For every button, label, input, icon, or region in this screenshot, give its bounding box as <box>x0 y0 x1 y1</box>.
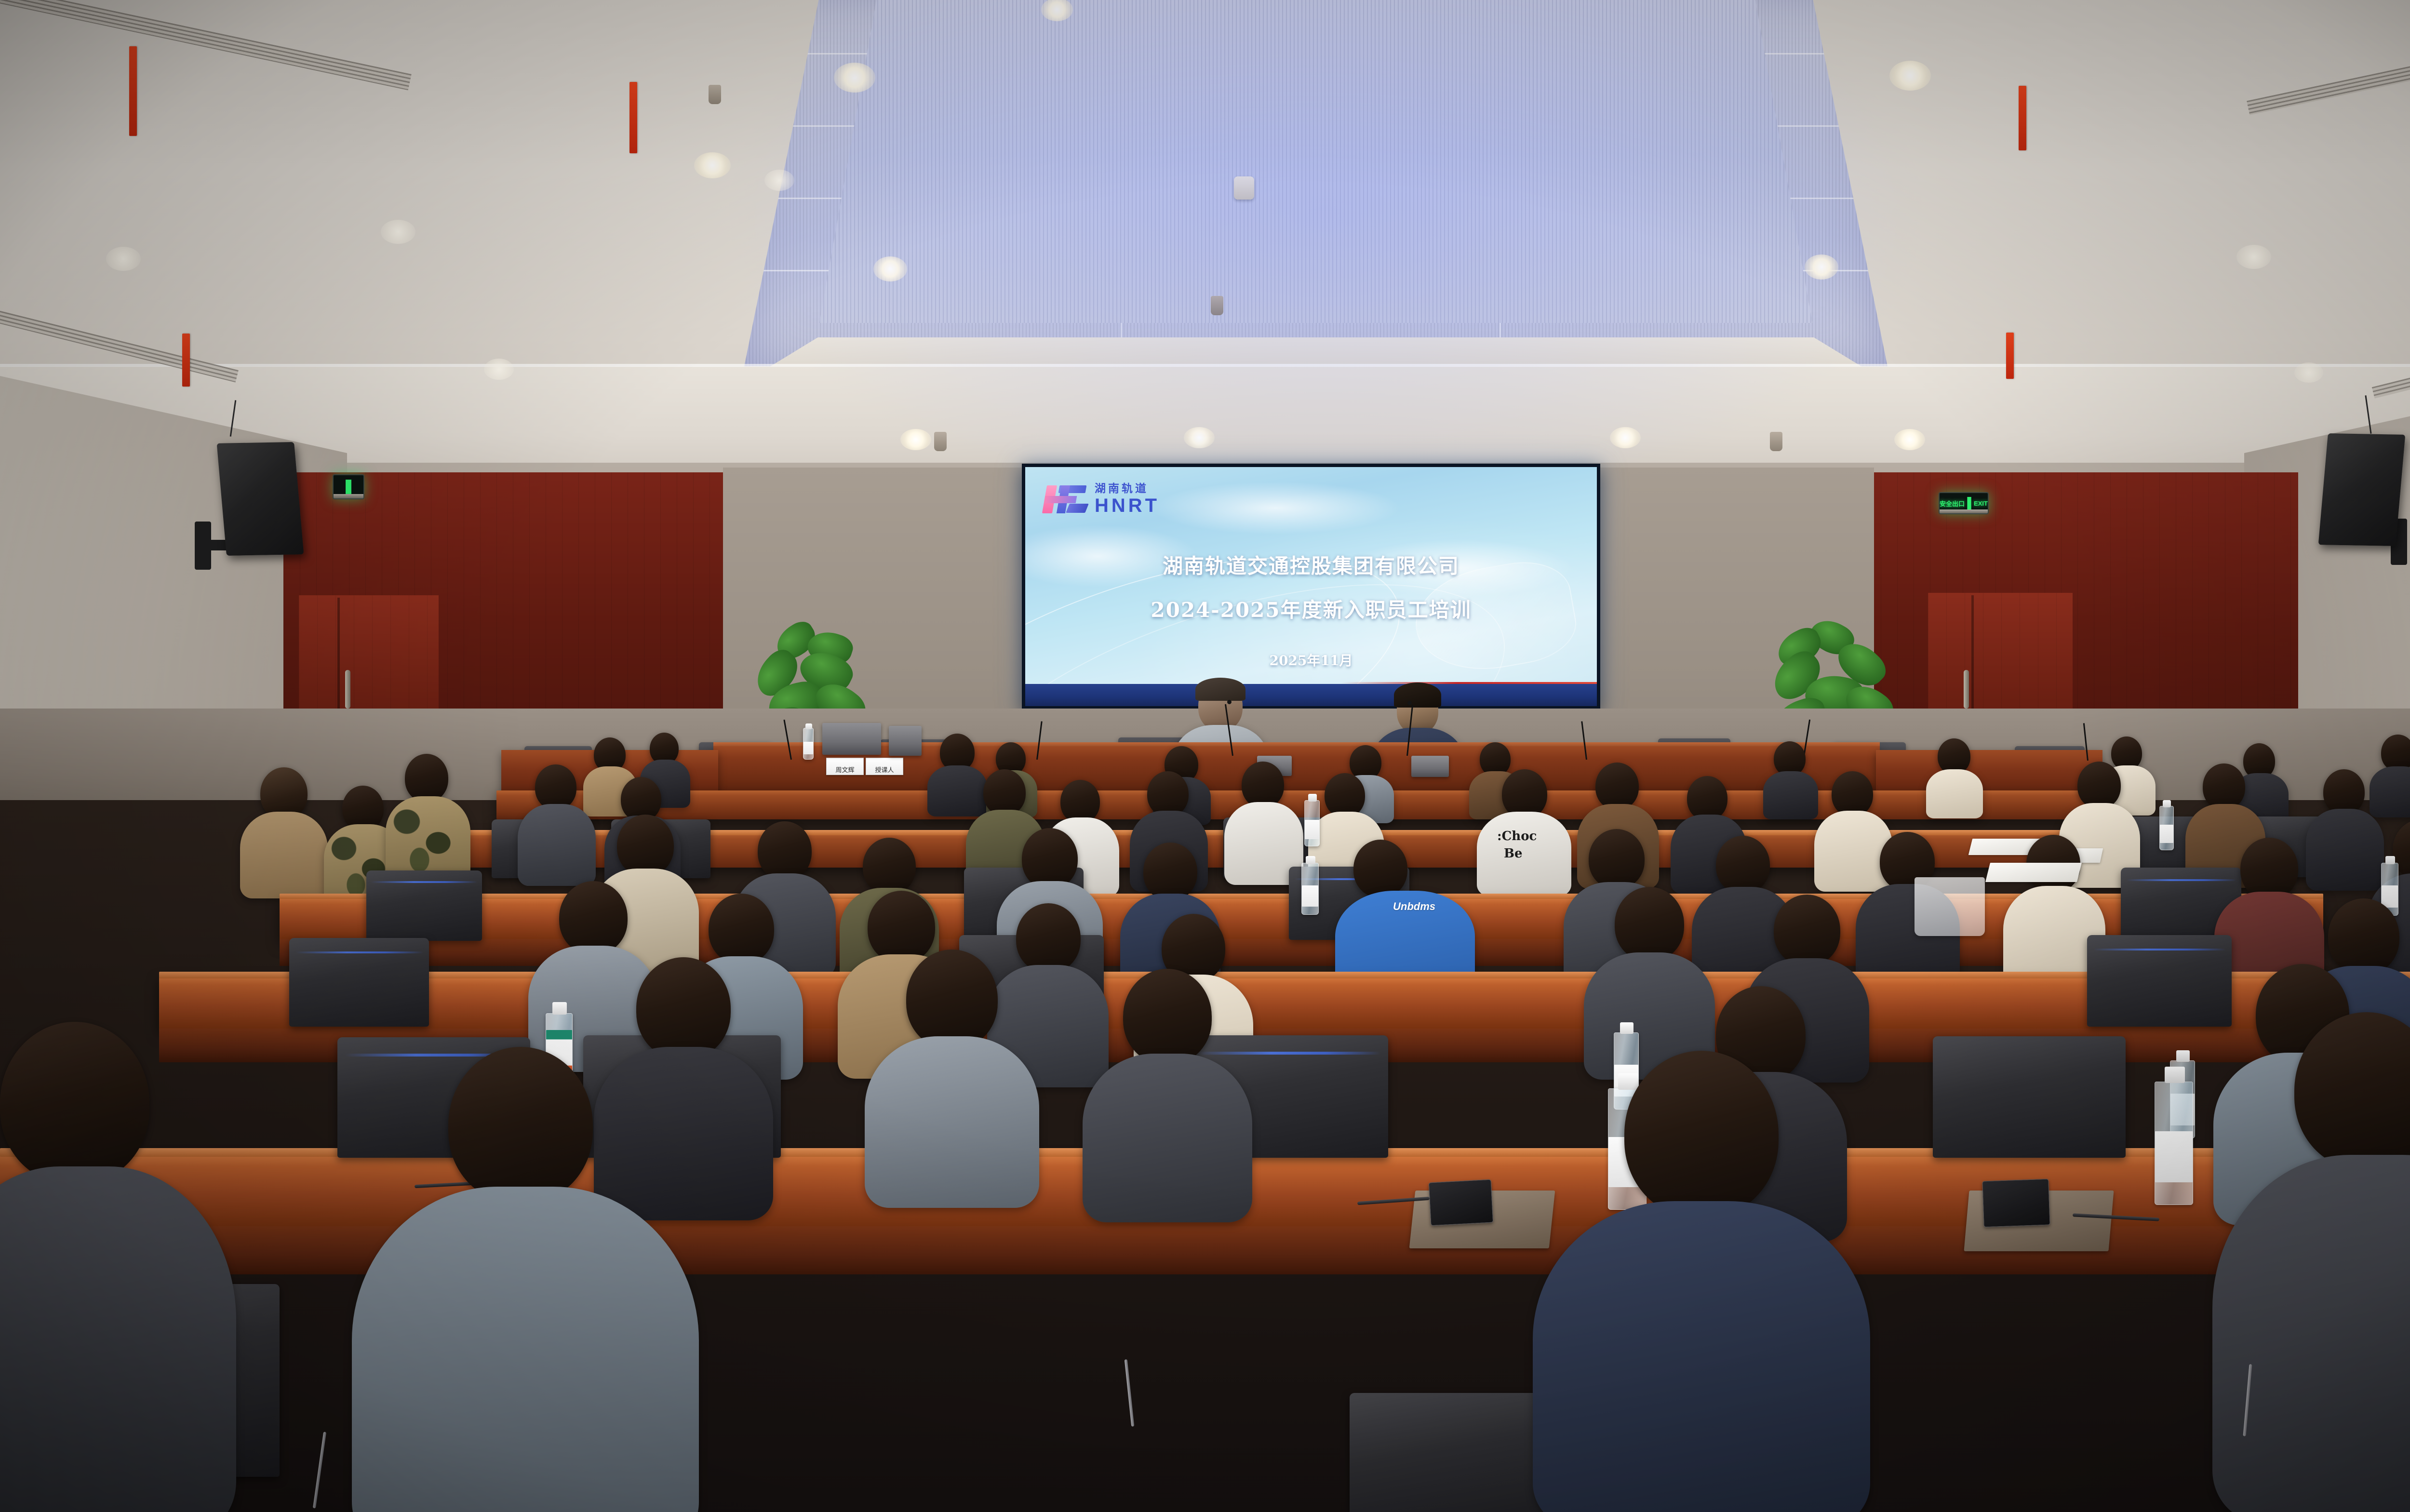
attendee-body <box>1477 812 1571 896</box>
logo-english-text: HNRT <box>1095 496 1160 515</box>
ceiling-downlight <box>2236 245 2271 269</box>
attendee-head <box>1595 763 1639 810</box>
ceiling-downlight <box>381 220 415 244</box>
door-handle <box>1964 670 1969 709</box>
attendee-head <box>1938 738 1970 774</box>
attendee-head <box>1589 829 1645 889</box>
red-ribbon-streamer-2 <box>182 334 190 387</box>
attendee-head <box>2203 763 2245 810</box>
name-card: 周文辉 <box>826 758 864 775</box>
attendee-head <box>2328 898 2399 975</box>
attendee-head <box>1022 828 1078 889</box>
microphone-head <box>1407 701 1412 705</box>
wall-speaker-right <box>2318 433 2406 546</box>
attendee-body <box>1926 769 1983 818</box>
attendee-body <box>2306 809 2384 891</box>
smartphone <box>1429 1179 1494 1226</box>
attendee-head <box>2323 769 2365 815</box>
name-card: 授课人 <box>866 758 903 775</box>
chair-accent-trim <box>2094 949 2226 950</box>
exit-sign-label-cn: 安全出口 <box>1940 499 1965 508</box>
ceiling-coffer-inner <box>819 0 1812 323</box>
attendee-head <box>1016 903 1081 973</box>
red-ribbon-streamer-4 <box>2019 86 2026 150</box>
ceiling-downlight <box>900 429 931 450</box>
exit-sign-left <box>333 474 364 499</box>
attendee-head <box>1060 780 1100 823</box>
projection-screen-content: 湖南轨道 HNRT 湖南轨道交通控股集团有限公司 2024-2025年度新入职员… <box>1025 467 1597 706</box>
ceiling-downlight <box>873 256 907 281</box>
attendee-body <box>386 796 470 881</box>
exit-sign-label-en: EXIT <box>1974 500 1988 507</box>
slide-title-line-2: 2024-2025年度新入职员工培训 <box>1025 594 1597 623</box>
attendee-head <box>2381 735 2410 771</box>
attendee-head <box>758 821 812 880</box>
attendee-body <box>1814 811 1892 892</box>
attendee-head <box>559 881 628 954</box>
water-bottle <box>2159 806 2174 850</box>
door-handle <box>345 670 350 709</box>
attendee-head <box>1502 769 1547 818</box>
ceiling-downlight <box>694 152 731 178</box>
attendee-head <box>1832 771 1873 816</box>
running-figure-icon <box>344 480 353 494</box>
exit-sign-right: 安全出口 EXIT <box>1939 492 1989 514</box>
attendee-head <box>1143 843 1197 900</box>
ceiling-downlight <box>484 359 514 380</box>
smartphone <box>1982 1179 2050 1228</box>
attendee-body <box>1083 1054 1252 1222</box>
water-bottle <box>1304 800 1320 846</box>
ceiling-downlight <box>106 247 141 271</box>
hoodie-text-line-2: Be <box>1504 847 1523 860</box>
exit-sign-base <box>334 494 363 498</box>
attendee-body <box>594 1047 773 1220</box>
exit-sign-base <box>1940 509 1988 513</box>
attendee-head <box>0 1022 149 1184</box>
attendee-body <box>2370 766 2410 817</box>
attendee-head <box>709 894 774 964</box>
attendee-head <box>863 838 916 895</box>
desk-monitor <box>822 723 881 755</box>
ceiling-downlight <box>2294 362 2323 383</box>
attendee-head <box>1624 1051 1779 1218</box>
chair-accent-trim <box>296 951 423 953</box>
red-ribbon-streamer-1 <box>129 46 137 136</box>
plastic-shopping-bag <box>1915 877 1985 936</box>
slide-footer-blue-band <box>1025 684 1597 706</box>
attendee-head <box>906 950 998 1049</box>
slide-cloud-decor <box>1151 482 1401 535</box>
hoodie-text-line-1: :Choc <box>1497 830 1537 843</box>
slide-logo: 湖南轨道 HNRT <box>1043 483 1160 515</box>
red-ribbon-streamer-3 <box>629 82 637 153</box>
microphone-head <box>1227 700 1232 704</box>
attendee-body <box>240 812 328 898</box>
attendee-body <box>927 765 987 816</box>
attendee-body <box>352 1187 699 1512</box>
attendee-head <box>448 1047 593 1203</box>
chair-accent-trim <box>1198 1052 1380 1055</box>
logo-chinese-text: 湖南轨道 <box>1095 483 1160 495</box>
chair <box>1933 1036 2126 1158</box>
attendee-head <box>617 815 674 876</box>
attendee-head <box>868 891 935 963</box>
sprinkler-head <box>709 85 721 104</box>
ceiling-downlight <box>834 63 875 93</box>
ceiling-soffit-edge <box>0 364 2410 367</box>
slide-title-block: 湖南轨道交通控股集团有限公司 2024-2025年度新入职员工培训 <box>1025 550 1597 623</box>
ceiling-downlight <box>1184 427 1215 448</box>
water-bottle <box>803 728 814 760</box>
water-bottle <box>2155 1082 2193 1205</box>
attendee-head <box>1615 887 1684 961</box>
attendee-body <box>1533 1201 1870 1512</box>
wall-speaker-left <box>217 442 304 556</box>
ceiling-downlight <box>764 170 794 191</box>
projection-screen: 湖南轨道 HNRT 湖南轨道交通控股集团有限公司 2024-2025年度新入职员… <box>1022 464 1600 709</box>
attendee-body <box>0 1166 236 1512</box>
smoke-detector <box>1234 176 1254 200</box>
attendee-head <box>1353 840 1407 897</box>
conference-hall-photo: 安全出口 EXIT 湖南轨道 <box>0 0 2410 1512</box>
attendee-head <box>1774 895 1840 966</box>
attendee-body <box>1763 771 1818 819</box>
ceiling-downlight <box>1894 429 1925 450</box>
attendee-head <box>2240 838 2298 899</box>
attendee-head <box>983 769 1026 816</box>
attendee-head <box>535 764 576 810</box>
sprinkler-head <box>1211 296 1223 315</box>
desk-monitor <box>889 726 922 756</box>
sprinkler-head <box>1770 432 1782 451</box>
jacket-text: Unbdms <box>1393 900 1435 913</box>
paper-sheet <box>1985 863 2082 882</box>
attendee-head <box>2077 762 2121 809</box>
sprinkler-head <box>934 432 947 451</box>
attendee-head <box>405 754 448 802</box>
ceiling-downlight <box>1889 61 1931 91</box>
water-bottle <box>1301 863 1319 915</box>
hnrt-hr-monogram-icon <box>1043 484 1089 514</box>
attendee-body <box>518 804 596 886</box>
chair-accent-trim <box>2127 879 2236 881</box>
attendee-head <box>1242 762 1284 808</box>
attendee-body <box>865 1036 1039 1208</box>
desk-monitor <box>1411 756 1449 777</box>
chair-accent-trim <box>371 881 477 883</box>
slide-date: 2025年11月 <box>1025 650 1597 669</box>
attendee-head <box>1325 773 1365 817</box>
desk-row-4-top-edge <box>159 972 2410 978</box>
attendee-head <box>1147 771 1189 816</box>
desk-row-4 <box>159 977 2410 1030</box>
slide-title-line-1: 湖南轨道交通控股集团有限公司 <box>1025 550 1597 579</box>
ceiling-downlight <box>1610 427 1641 448</box>
ceiling-downlight <box>1805 254 1838 280</box>
attendee-head <box>636 957 731 1059</box>
red-ribbon-streamer-5 <box>2006 333 2014 379</box>
running-figure-icon <box>1966 497 1972 509</box>
attendee-head <box>1716 836 1770 894</box>
attendee-head <box>1687 776 1727 820</box>
attendee-head <box>1123 969 1212 1064</box>
